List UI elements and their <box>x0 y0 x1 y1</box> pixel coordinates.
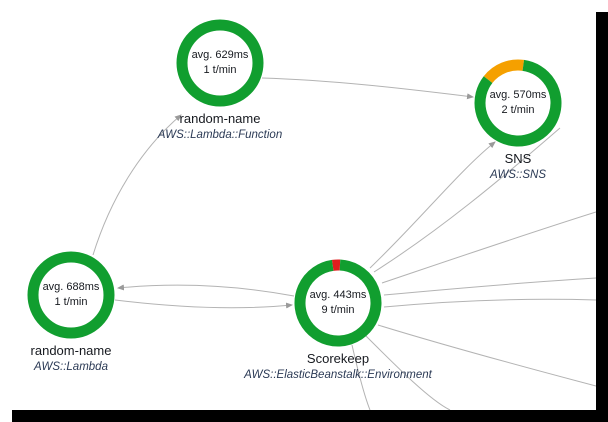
service-node-labels: SNSAWS::SNS <box>368 151 596 181</box>
panel-shadow-right <box>596 12 608 422</box>
service-map-edge[interactable] <box>118 285 294 296</box>
service-node-type: AWS::Lambda::Function <box>70 129 370 141</box>
service-map-edge[interactable] <box>384 299 596 307</box>
service-map-edge[interactable] <box>382 212 596 283</box>
panel-shadow-bottom <box>12 410 608 422</box>
service-map-surface[interactable]: avg. 629ms1 t/minrandom-nameAWS::Lambda:… <box>0 0 596 410</box>
service-node-latency: avg. 629ms <box>192 48 249 63</box>
service-map-edge[interactable] <box>115 300 292 308</box>
service-node-labels: ScorekeepAWS::ElasticBeanstalk::Environm… <box>188 351 488 381</box>
service-node-labels: random-nameAWS::Lambda::Function <box>70 111 370 141</box>
service-node-name[interactable]: random-name <box>70 111 370 126</box>
service-map-canvas: avg. 629ms1 t/minrandom-nameAWS::Lambda:… <box>0 0 608 422</box>
service-node-type: AWS::ElasticBeanstalk::Environment <box>188 369 488 381</box>
service-map-edge[interactable] <box>384 278 596 295</box>
service-map-edge[interactable] <box>262 78 473 97</box>
service-node-rate: 2 t/min <box>501 103 534 118</box>
service-node-name[interactable]: SNS <box>368 151 596 166</box>
service-map-edge[interactable] <box>374 128 560 272</box>
service-node-name[interactable]: Scorekeep <box>188 351 488 366</box>
service-node-metrics: avg. 443ms9 t/min <box>294 259 382 347</box>
service-node-rate: 1 t/min <box>203 63 236 78</box>
service-node-latency: avg. 688ms <box>43 280 100 295</box>
service-node-rate: 9 t/min <box>321 303 354 318</box>
service-node-latency: avg. 570ms <box>490 88 547 103</box>
service-node-type: AWS::SNS <box>368 169 596 181</box>
service-node-latency: avg. 443ms <box>310 288 367 303</box>
service-node-metrics: avg. 629ms1 t/min <box>176 19 264 107</box>
service-node-rate: 1 t/min <box>54 295 87 310</box>
service-node-metrics: avg. 688ms1 t/min <box>27 251 115 339</box>
service-node-metrics: avg. 570ms2 t/min <box>474 59 562 147</box>
